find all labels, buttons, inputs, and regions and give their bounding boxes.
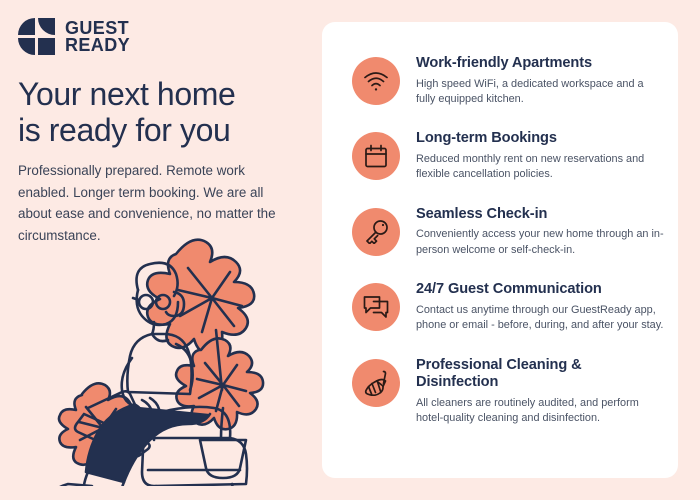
wifi-icon xyxy=(352,57,400,105)
feature-description: Conveniently access your new home throug… xyxy=(416,227,664,258)
chat-bubbles-icon xyxy=(352,283,400,331)
list-item[interactable]: 24/7 Guest Communication Contact us anyt… xyxy=(352,280,664,333)
brand-wordmark: GUEST READY xyxy=(65,20,130,55)
feature-title: Professional Cleaning & Disinfection xyxy=(416,357,664,392)
promo-page: GUEST READY Your next home is ready for … xyxy=(0,0,700,500)
feature-description: Contact us anytime through our GuestRead… xyxy=(416,303,664,334)
feature-description: All cleaners are routinely audited, and … xyxy=(416,396,664,427)
calendar-icon xyxy=(352,132,400,180)
feature-title: Work-friendly Apartments xyxy=(416,55,664,73)
features-card: Work-friendly Apartments High speed WiFi… xyxy=(322,22,678,478)
feature-title: Long-term Bookings xyxy=(416,130,664,148)
feature-text: 24/7 Guest Communication Contact us anyt… xyxy=(416,280,664,333)
guestready-quadrant-logo-icon xyxy=(18,18,56,56)
list-item[interactable]: Work-friendly Apartments High speed WiFi… xyxy=(352,54,664,107)
list-item[interactable]: Long-term Bookings Reduced monthly rent … xyxy=(352,129,664,182)
feature-description: High speed WiFi, a dedicated workspace a… xyxy=(416,77,664,108)
left-column: GUEST READY Your next home is ready for … xyxy=(0,0,322,500)
brand-name-line2: READY xyxy=(65,37,130,54)
feature-text: Long-term Bookings Reduced monthly rent … xyxy=(416,129,664,182)
hero-illustration xyxy=(26,218,316,486)
headline-line-2: is ready for you xyxy=(18,112,308,148)
feature-text: Work-friendly Apartments High speed WiFi… xyxy=(416,54,664,107)
features-list: Work-friendly Apartments High speed WiFi… xyxy=(352,54,664,427)
feature-description: Reduced monthly rent on new reservations… xyxy=(416,152,664,183)
list-item[interactable]: Professional Cleaning & Disinfection All… xyxy=(352,356,664,427)
headline-line-1: Your next home xyxy=(18,76,308,112)
feature-title: 24/7 Guest Communication xyxy=(416,281,664,299)
list-item[interactable]: Seamless Check-in Conveniently access yo… xyxy=(352,205,664,258)
feature-title: Seamless Check-in xyxy=(416,206,664,224)
page-title: Your next home is ready for you xyxy=(18,76,308,149)
brand-logo[interactable]: GUEST READY xyxy=(18,18,130,56)
key-icon xyxy=(352,208,400,256)
feature-text: Professional Cleaning & Disinfection All… xyxy=(416,356,664,427)
broom-icon xyxy=(352,359,400,407)
feature-text: Seamless Check-in Conveniently access yo… xyxy=(416,205,664,258)
